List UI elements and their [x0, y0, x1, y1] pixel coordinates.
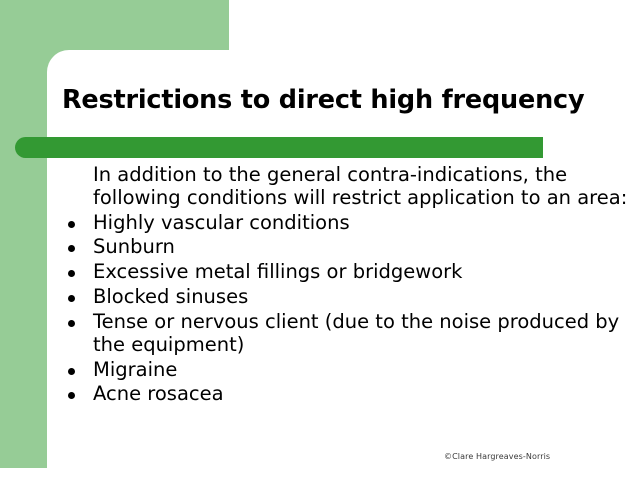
slide: Restrictions to direct high frequency In… [0, 0, 638, 479]
decorative-green-divider-bar [15, 137, 543, 158]
bullet-dot-icon [68, 295, 75, 302]
list-item: Highly vascular conditions [62, 212, 632, 235]
page-title: Restrictions to direct high frequency [62, 86, 622, 114]
bullet-dot-icon [68, 221, 75, 228]
list-item: Migraine [62, 359, 632, 382]
list-item-label: Blocked sinuses [93, 285, 248, 308]
list-item: Blocked sinuses [62, 286, 632, 309]
bullet-dot-icon [68, 320, 75, 327]
intro-paragraph: In addition to the general contra-indica… [62, 164, 632, 210]
bullet-dot-icon [68, 270, 75, 277]
list-item-label: Migraine [93, 358, 177, 381]
slide-body: In addition to the general contra-indica… [62, 164, 632, 408]
bullet-dot-icon [68, 245, 75, 252]
list-item: Excessive metal fillings or bridgework [62, 261, 632, 284]
list-item: Tense or nervous client (due to the nois… [62, 311, 632, 357]
list-item: Sunburn [62, 236, 632, 259]
bullet-dot-icon [68, 368, 75, 375]
restrictions-list: Highly vascular conditions Sunburn Exces… [62, 212, 632, 407]
bullet-dot-icon [68, 392, 75, 399]
copyright-credit: ©Clare Hargreaves-Norris [444, 452, 550, 461]
list-item-label: Highly vascular conditions [93, 211, 350, 234]
list-item-label: Excessive metal fillings or bridgework [93, 260, 462, 283]
list-item-label: Sunburn [93, 235, 175, 258]
list-item-label: Tense or nervous client (due to the nois… [93, 310, 619, 356]
list-item-label: Acne rosacea [93, 382, 224, 405]
list-item: Acne rosacea [62, 383, 632, 406]
